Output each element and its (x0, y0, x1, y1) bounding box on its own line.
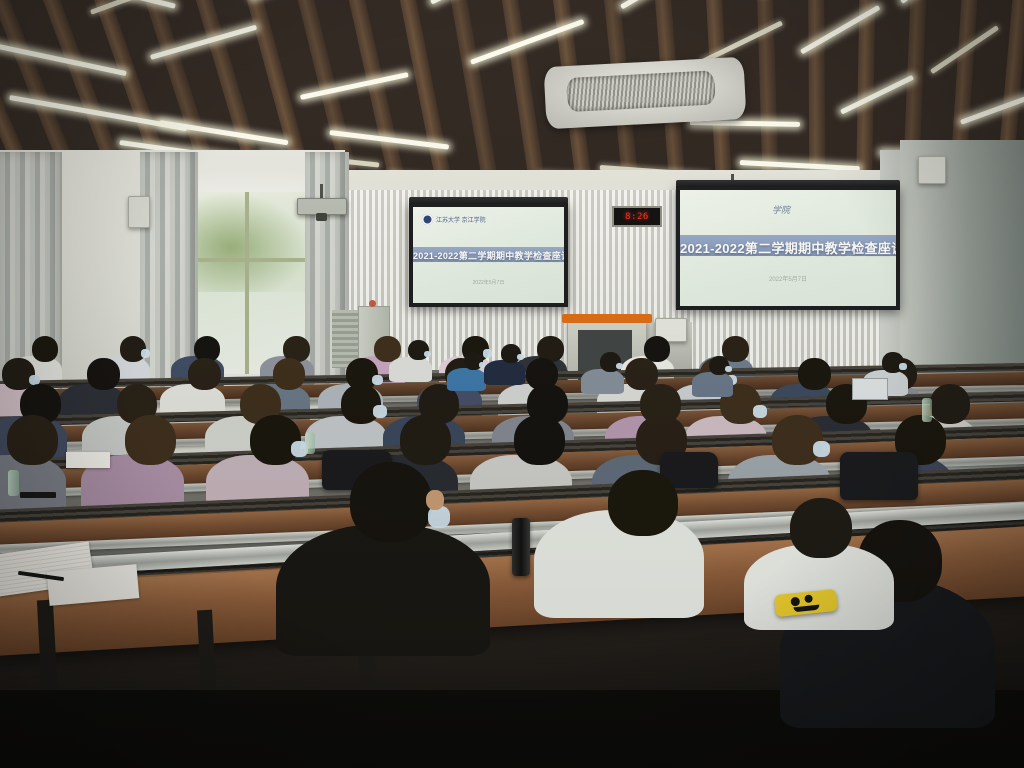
screen-roller-right (676, 180, 900, 187)
screen-roller-left (409, 197, 568, 204)
face-mask (813, 441, 830, 457)
face-mask (899, 363, 907, 370)
person-head (273, 358, 306, 390)
person-torso (692, 372, 733, 396)
right-screen-title: 2021-2022第二学期期中教学检查座谈会 (680, 238, 896, 257)
left-screen-date: 2022年5月7日 (413, 279, 564, 286)
laptop (852, 378, 888, 400)
person-head (772, 415, 823, 465)
ceiling-tube-light (159, 120, 288, 145)
led-clock-text: 8:26 (625, 212, 649, 222)
university-logo-icon (422, 214, 433, 225)
thermos-flask (512, 518, 530, 576)
face-mask (517, 354, 524, 360)
right-screen-logo-text: 学院 (772, 203, 790, 216)
water-bottle (305, 432, 315, 454)
person-head (514, 415, 565, 465)
face-mask (141, 349, 150, 357)
person-head (400, 415, 451, 465)
person-head (798, 358, 831, 390)
person-torso (581, 369, 624, 394)
person-torso (484, 360, 525, 384)
lectern-accent-strip (562, 314, 652, 323)
water-bottle (8, 470, 19, 496)
face-mask (483, 349, 492, 357)
backpack (840, 452, 918, 500)
face-mask (373, 405, 387, 418)
left-screen-title: 2021-2022第二学期期中教学检查座谈会 (413, 249, 564, 262)
person-head (250, 415, 301, 465)
water-bottle (922, 398, 932, 422)
left-projection-screen[interactable]: 江苏大学 京江学院 2021-2022第二学期期中教学检查座谈会 2022年5月… (409, 203, 568, 307)
ceiling-tube-light (840, 75, 914, 115)
face-mask (725, 366, 732, 372)
person-head (341, 384, 382, 424)
ceiling-ac-unit (544, 57, 747, 129)
person-head (87, 358, 120, 390)
papers (66, 452, 110, 468)
led-clock-display: 8:26 (612, 206, 662, 227)
face-mask (753, 405, 767, 418)
window-mullion-v (245, 192, 249, 374)
window-mullion-h (197, 258, 309, 262)
face-mask (372, 375, 383, 385)
mobile-phone (20, 492, 56, 498)
university-name-left: 江苏大学 京江学院 (436, 215, 486, 224)
lecture-hall-photo: 江苏大学 京江学院 2021-2022第二学期期中教学检查座谈会 2022年5月… (0, 0, 1024, 768)
person-head (930, 384, 971, 424)
person-head (125, 415, 176, 465)
window-foliage (197, 192, 309, 292)
projector-mount-left (320, 184, 323, 198)
person-torso (389, 357, 432, 382)
person-head (7, 415, 58, 465)
wall-speaker-right (918, 156, 946, 184)
person-head (644, 336, 671, 362)
cabinet-indicator-icon (369, 300, 376, 307)
person-head (188, 358, 221, 390)
projector-left (297, 198, 347, 215)
right-projection-screen[interactable]: 学院 2021-2022第二学期期中教学检查座谈会 2022年5月7日 (676, 186, 900, 310)
ceiling-tube-light (690, 120, 800, 127)
right-screen-date: 2022年5月7日 (680, 274, 896, 283)
wall-speaker-left (128, 196, 150, 228)
person-torso (447, 368, 486, 391)
person-head (32, 336, 59, 362)
